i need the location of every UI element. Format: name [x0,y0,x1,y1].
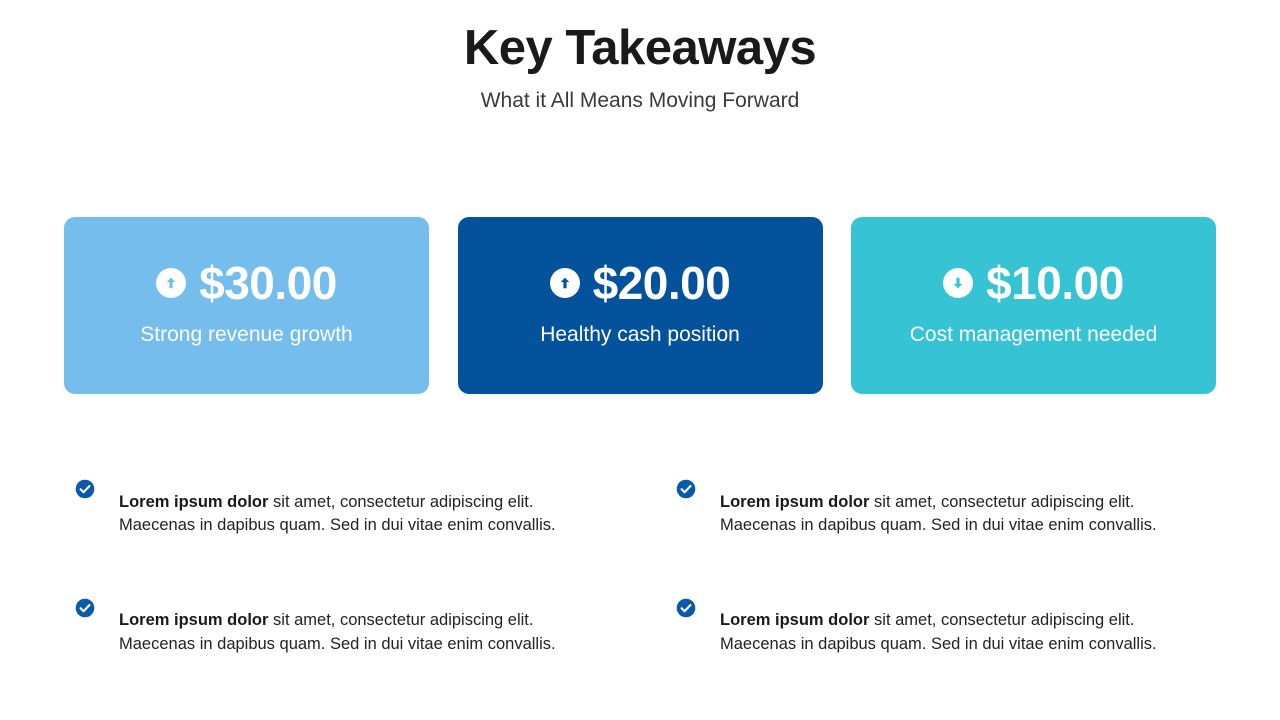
check-circle-icon [676,598,696,618]
stat-card-revenue[interactable]: $30.00 Strong revenue growth [64,217,429,394]
arrow-up-icon [156,268,186,298]
check-circle-icon [75,598,95,618]
list-item-text: Lorem ipsum dolor sit amet, consectetur … [720,609,1198,657]
stat-card-value-row: $10.00 [943,260,1124,306]
stat-card-group: $30.00 Strong revenue growth $20.00 Heal… [64,217,1216,394]
arrow-up-icon [550,268,580,298]
list-item-text: Lorem ipsum dolor sit amet, consectetur … [119,491,597,539]
slide-header: Key Takeaways What it All Means Moving F… [0,0,1280,113]
list-item: Lorem ipsum dolor sit amet, consectetur … [75,593,676,674]
stat-card-cash[interactable]: $20.00 Healthy cash position [458,217,823,394]
takeaway-bullet-list: Lorem ipsum dolor sit amet, consectetur … [75,474,1205,674]
check-circle-icon [75,479,95,499]
list-item: Lorem ipsum dolor sit amet, consectetur … [676,474,1205,555]
stat-card-value-row: $30.00 [156,260,337,306]
stat-card-label: Cost management needed [910,322,1158,347]
arrow-down-icon [943,268,973,298]
stat-card-label: Strong revenue growth [140,322,352,347]
list-item-lead: Lorem ipsum dolor [119,493,268,511]
stat-card-value: $20.00 [593,260,731,306]
page-title: Key Takeaways [0,0,1280,78]
list-item-lead: Lorem ipsum dolor [720,493,869,511]
stat-card-value: $10.00 [986,260,1124,306]
list-item-text: Lorem ipsum dolor sit amet, consectetur … [119,609,597,657]
stat-card-value-row: $20.00 [550,260,731,306]
list-item-text: Lorem ipsum dolor sit amet, consectetur … [720,491,1198,539]
stat-card-cost[interactable]: $10.00 Cost management needed [851,217,1216,394]
stat-card-label: Healthy cash position [540,322,740,347]
list-item-lead: Lorem ipsum dolor [119,611,268,629]
page-subtitle: What it All Means Moving Forward [0,78,1280,113]
list-item: Lorem ipsum dolor sit amet, consectetur … [75,474,676,555]
stat-card-value: $30.00 [199,260,337,306]
check-circle-icon [676,479,696,499]
list-item: Lorem ipsum dolor sit amet, consectetur … [676,593,1205,674]
list-item-lead: Lorem ipsum dolor [720,611,869,629]
